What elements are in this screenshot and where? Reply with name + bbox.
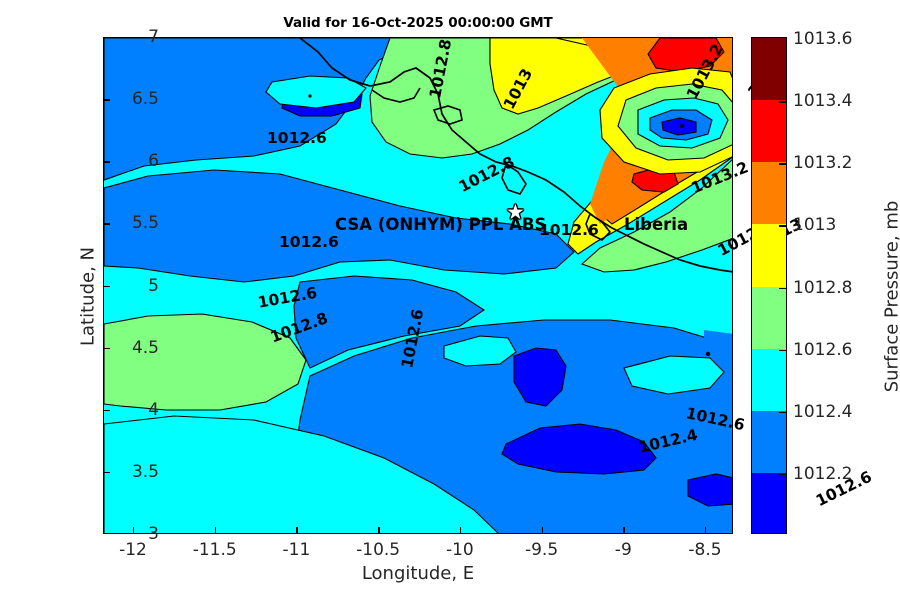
y-tick-mark [103,472,110,473]
x-tick-label: -11.5 [193,540,237,560]
colorbar-tick-label: 1012.2 [793,464,852,484]
colorbar-band [752,349,786,411]
y-tick-mark [103,410,110,411]
y-tick-mark [103,99,110,100]
y-tick-mark [103,223,110,224]
contour-field [104,38,733,534]
y-axis-label: Latitude, N [78,147,99,447]
colorbar-tick-label: 1013.6 [793,29,852,49]
y-tick-label: 3 [148,524,159,544]
y-tick-label: 3.5 [132,462,159,482]
colorbar-band [752,162,786,224]
x-tick-label: -9 [615,540,632,560]
x-tick-mark [215,527,216,534]
colorbar-tick-mark [779,288,787,289]
y-tick-mark [103,348,110,349]
x-tick-mark [460,527,461,534]
colorbar-tick-label: 1013 [793,215,836,235]
colorbar-tick-mark [779,163,787,164]
y-tick-label: 7 [148,27,159,47]
x-tick-mark [623,527,624,534]
y-tick-label: 6.5 [132,89,159,109]
y-tick-label: 5.5 [132,213,159,233]
y-tick-mark [103,286,110,287]
colorbar-band [752,100,786,162]
colorbar-tick-mark [779,474,787,475]
colorbar-band [752,38,786,100]
colorbar-tick-mark [779,101,787,102]
colorbar-tick-label: 1012.4 [793,402,852,422]
colorbar-tick-label: 1013.4 [793,91,852,111]
colorbar-band [752,473,786,534]
x-tick-label: -9.5 [525,540,558,560]
y-tick-label: 5 [148,276,159,296]
colorbar-tick-mark [779,412,787,413]
y-tick-label: 4 [148,400,159,420]
x-tick-mark [378,527,379,534]
colorbar [751,37,787,534]
x-tick-mark [542,527,543,534]
colorbar-band [752,287,786,349]
colorbar-band [752,224,786,286]
colorbar-tick-label: 1012.8 [793,278,852,298]
colorbar-tick-mark [779,225,787,226]
x-tick-label: -10.5 [356,540,400,560]
y-tick-mark [103,161,110,162]
contour-plot-area [103,37,733,534]
x-tick-label: -11 [283,540,311,560]
page-title: Valid for 16-Oct-2025 00:00:00 GMT [103,15,733,31]
x-tick-label: -10 [446,540,474,560]
colorbar-tick-label: 1013.2 [793,153,852,173]
x-tick-mark [296,527,297,534]
y-tick-label: 6 [148,151,159,171]
x-tick-label: -8.5 [688,540,721,560]
x-tick-mark [705,527,706,534]
x-tick-label: -12 [119,540,147,560]
x-tick-mark [133,527,134,534]
colorbar-axis-label: Surface Pressure, mb [882,147,900,447]
y-tick-label: 4.5 [132,338,159,358]
colorbar-tick-label: 1012.6 [793,340,852,360]
colorbar-band [752,411,786,473]
x-axis-label: Longitude, E [103,563,733,584]
colorbar-tick-mark [779,350,787,351]
